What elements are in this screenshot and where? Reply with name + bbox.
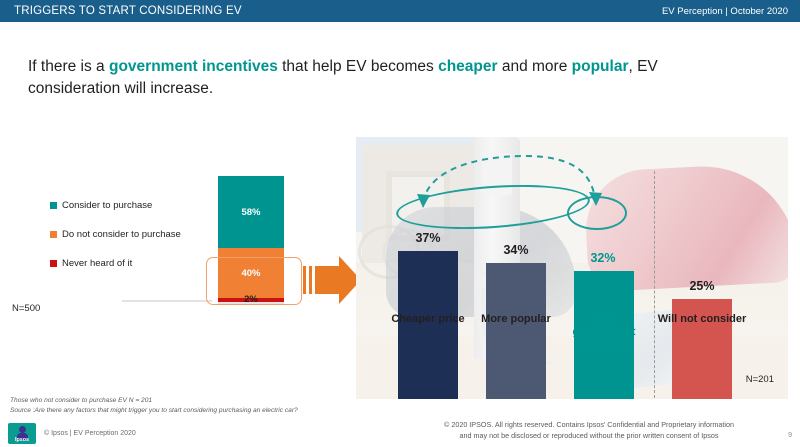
chart-dashed-divider (654, 171, 655, 399)
page-title: TRIGGERS TO START CONSIDERING EV (14, 5, 242, 17)
logo-text: Ipsos (8, 437, 36, 443)
legend-swatch-icon (50, 231, 57, 238)
legend-item-label: Do not consider to purchase (62, 229, 181, 240)
bar-value-cheaper-price: 37% (393, 231, 463, 245)
footer-copyleft: © Ipsos | EV Perception 2020 (44, 430, 136, 437)
bar-value-more-government-incentives: 32% (568, 251, 638, 265)
footer-copyright: © 2020 IPSOS. All rights reserved. Conta… (404, 419, 774, 441)
lead-sentence: If there is a government incentives that… (28, 56, 748, 100)
legend-item-consider: Consider to purchase (50, 200, 181, 211)
bar-label-will-not-consider: Will not consider (656, 313, 748, 326)
ipsos-logo: Ipsos (8, 423, 36, 444)
logo-head-icon (19, 426, 26, 433)
bar-label-more-popular: More popular (470, 313, 562, 326)
highlight-ellipse-incentives (567, 196, 627, 230)
header-divider (0, 22, 800, 24)
footer-copyright-line-2: and may not be disclosed or reproduced w… (404, 430, 774, 441)
bar-value-will-not-consider: 25% (667, 279, 737, 293)
baseline-rule-left (122, 300, 212, 302)
lead-highlight-popular: popular (572, 58, 629, 75)
lead-part-3: and more (498, 58, 572, 75)
bar-value-more-popular: 34% (481, 243, 551, 257)
stack-highlight-box (206, 257, 302, 305)
slide-header: TRIGGERS TO START CONSIDERING EV EV Perc… (0, 0, 800, 22)
legend-item-do-not-consider: Do not consider to purchase (50, 229, 181, 240)
footnote-block: Those who not consider to purchase EV N … (10, 396, 298, 416)
footnote-line-1: Those who not consider to purchase EV N … (10, 396, 298, 406)
lead-part-2: that help EV becomes (278, 58, 438, 75)
stack-segment-consider: 58% (218, 176, 284, 248)
orange-right-arrow-icon (303, 254, 361, 306)
legend-swatch-icon (50, 260, 57, 267)
right-chart-sample-size: N=201 (746, 374, 774, 385)
bar-label-more-government-incentives: More government incentives (558, 313, 650, 352)
legend-swatch-icon (50, 202, 57, 209)
legend-item-label: Never heard of it (62, 258, 132, 269)
footer-copyright-line-1: © 2020 IPSOS. All rights reserved. Conta… (404, 419, 774, 430)
lead-part-1: If there is a (28, 58, 109, 75)
photo-panel: 37% 34% 32% 25% Cheaper price More popul… (356, 137, 788, 399)
legend-item-never-heard: Never heard of it (50, 258, 181, 269)
left-chart-sample-size: N=500 (12, 303, 40, 314)
stack-segment-value: 58% (241, 207, 260, 218)
header-meta: EV Perception | October 2020 (662, 6, 788, 17)
bar-label-cheaper-price: Cheaper price (382, 313, 474, 326)
legend-item-label: Consider to purchase (62, 200, 152, 211)
lead-highlight-incentives: government incentives (109, 58, 278, 75)
lead-highlight-cheaper: cheaper (438, 58, 497, 75)
footnote-line-2: Source :Are there any factors that might… (10, 406, 298, 416)
bar-more-popular (486, 263, 546, 399)
page-number: 9 (788, 432, 792, 439)
legend: Consider to purchase Do not consider to … (50, 200, 181, 287)
